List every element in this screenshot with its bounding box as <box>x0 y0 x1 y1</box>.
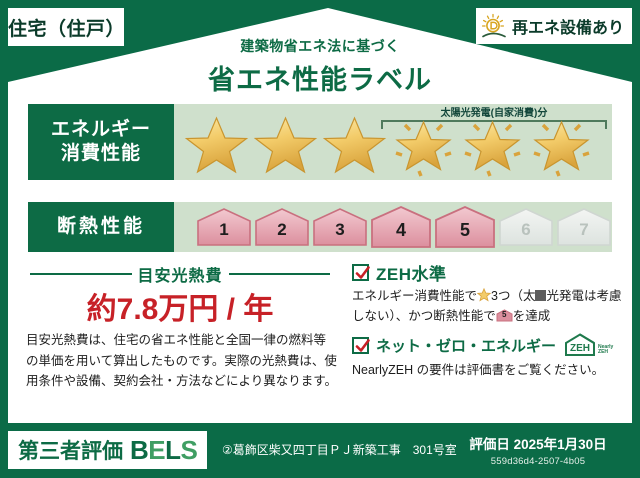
sun-solar-icon <box>480 13 508 39</box>
insulation-grade-row: 1 2 3 4 5 6 7 <box>182 202 612 252</box>
heading-rule-right <box>229 273 331 275</box>
inline-grade-value: 5 <box>496 311 513 319</box>
project-address: ②葛飾区柴又四丁目ＰＪ新築工事 301号室 <box>222 441 457 458</box>
evaluation-id: 559d36d4-2507-4b05 <box>448 456 628 467</box>
energy-performance-label: エネルギー 消費性能 <box>28 104 174 180</box>
house-type-tag: 住宅（住戸） <box>8 8 124 46</box>
renewable-badge-label: 再エネ設備あり <box>512 14 624 38</box>
star-solar-sparkle <box>458 113 527 177</box>
net-zero-energy-body: NearlyZEH の要件は評価書をご覧ください。 <box>352 360 624 380</box>
insulation-performance-label: 断熱性能 <box>28 202 174 252</box>
utility-cost-heading: 目安光熱費 <box>30 262 330 286</box>
grade-badge-achieved: 5 <box>434 205 496 249</box>
star-solar-sparkle <box>527 113 596 177</box>
zeh-logo-sub-line2: ZEH <box>598 349 608 355</box>
star-plain <box>182 113 251 177</box>
grade-badge: 4 <box>370 205 432 249</box>
redacted-character <box>535 290 546 301</box>
energy-star-rating: 太陽光発電(自家消費)分 <box>182 104 612 180</box>
grade-value: 4 <box>370 220 432 241</box>
grade-value: 1 <box>196 220 252 240</box>
inline-star-icon <box>477 288 491 302</box>
checkbox-checked-icon <box>352 337 369 354</box>
net-zero-energy-heading: ネット・ゼロ・エネルギー ZEH Nearly ZEH <box>352 332 613 358</box>
checkbox-checked-icon <box>352 264 369 281</box>
grade-badge: 2 <box>254 207 310 247</box>
energy-label-line1: エネルギー <box>51 118 151 142</box>
evaluation-date: 評価日 2025年1月30日 <box>448 433 628 453</box>
renewable-equipment-badge: 再エネ設備あり <box>476 8 632 44</box>
label-root: 住宅（住戸） 再エネ設備あり 建築物省エネ法に基づく <box>0 0 640 478</box>
grade-badge-inactive: 7 <box>556 207 612 247</box>
column-divider <box>341 258 343 394</box>
inline-grade-badge-icon: 5 <box>496 309 513 322</box>
zeh-logo-sub: Nearly ZEH <box>598 345 613 359</box>
grade-value: 6 <box>498 220 554 240</box>
star-plain <box>251 113 320 177</box>
bels-jp-label: 第三者評価 <box>18 435 123 465</box>
grade-value: 3 <box>312 220 368 240</box>
bels-logo-box: 第三者評価 BELS <box>8 431 207 469</box>
energy-label-line2: 消費性能 <box>51 142 151 166</box>
utility-cost-heading-label: 目安光熱費 <box>138 262 223 286</box>
zeh-body-star-text: 3つ（太 <box>491 289 535 303</box>
heading-rule-left <box>30 273 132 275</box>
zeh-body-part3: を達成 <box>513 309 551 323</box>
grade-badge: 1 <box>196 207 252 247</box>
zeh-body-part1: エネルギー消費性能で <box>352 289 477 303</box>
page-title: 省エネ性能ラベル <box>0 58 640 97</box>
grade-badge: 3 <box>312 207 368 247</box>
utility-cost-value: 約7.8万円 / 年 <box>30 284 330 328</box>
net-zero-energy-title: ネット・ゼロ・エネルギー <box>376 335 556 356</box>
star-row <box>182 112 612 178</box>
zeh-standard-body: エネルギー消費性能で3つ（太光発電は考慮しない）、かつ断熱性能で5を達成 <box>352 286 624 327</box>
footer-bar: 第三者評価 BELS ②葛飾区柴又四丁目ＰＪ新築工事 301号室 評価日 202… <box>0 423 640 478</box>
zeh-standard-heading: ZEH水準 <box>352 260 447 285</box>
svg-text:ZEH: ZEH <box>570 343 590 354</box>
grade-value: 7 <box>556 220 612 240</box>
star-plain <box>320 113 389 177</box>
zeh-standard-title: ZEH水準 <box>376 260 447 285</box>
zeh-logo: ZEH Nearly ZEH <box>563 332 613 358</box>
grade-value: 2 <box>254 220 310 240</box>
bels-en-label: BELS <box>130 435 197 466</box>
grade-value: 5 <box>434 220 496 241</box>
house-type-label: 住宅（住戸） <box>8 14 124 41</box>
grade-badge-inactive: 6 <box>498 207 554 247</box>
utility-cost-note: 目安光熱費は、住宅の省エネ性能と全国一律の燃料等の単価を用いて算出したものです。… <box>26 330 338 392</box>
evaluation-info: 評価日 2025年1月30日 559d36d4-2507-4b05 <box>448 433 628 467</box>
star-solar-sparkle <box>389 113 458 177</box>
